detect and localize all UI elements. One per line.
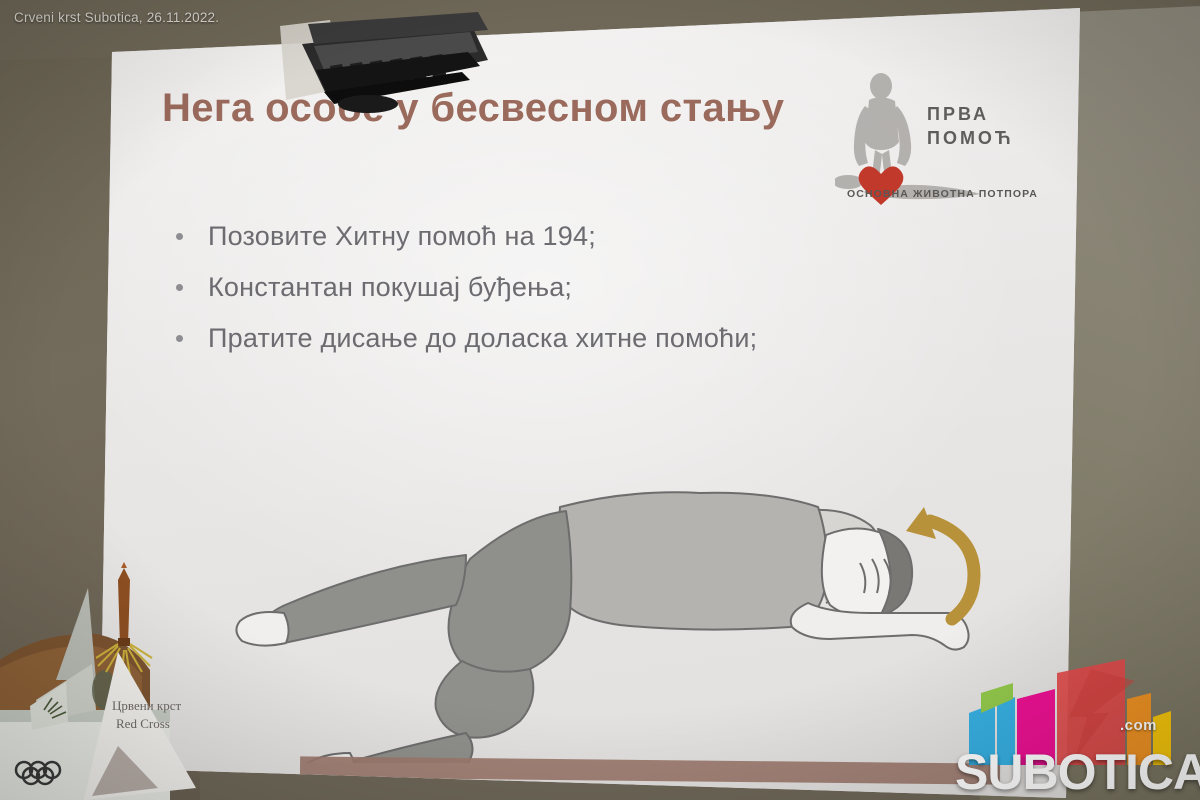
bullet-dot-icon — [176, 233, 183, 240]
watermark-domain: .com — [1120, 717, 1157, 734]
bullet-text: Константан покушај буђења; — [208, 272, 572, 302]
first-aid-logo: ПРВА ПОМОЋ ОСНОВНА ЖИВОТНА ПОТПОРА — [835, 70, 1050, 225]
logo-subtitle: ОСНОВНА ЖИВОТНА ПОТПОРА — [835, 188, 1050, 200]
bullet-text: Пратите дисање до доласка хитне помоћи; — [208, 323, 757, 353]
watermark-word: SUBOTICA — [955, 743, 1183, 800]
foreground-objects: Црвени крст Red Cross — [0, 560, 330, 800]
led-floodlight — [272, 8, 494, 116]
list-item: Константан покушај буђења; — [162, 271, 952, 305]
list-item: Позовите Хитну помоћ на 194; — [162, 220, 952, 254]
flag-text-line1: Црвени крст — [112, 698, 181, 713]
photo-scene: Нега особе у бесвесном стању Позовите Хи… — [0, 0, 1200, 800]
bullet-dot-icon — [176, 284, 183, 291]
head-tilt-arrow-icon — [906, 507, 974, 619]
bullet-dot-icon — [176, 335, 183, 342]
photo-caption: Crveni krst Subotica, 26.11.2022. — [14, 10, 219, 25]
recovery-position-illustration — [230, 463, 1020, 763]
logo-title: ПРВА ПОМОЋ — [927, 102, 1014, 151]
list-item: Пратите дисање до доласка хитне помоћи; — [162, 322, 952, 356]
slide-bullet-list: Позовите Хитну помоћ на 194; Константан … — [162, 220, 952, 372]
flag-text-line2: Red Cross — [116, 716, 170, 731]
subotica-watermark: .com SUBOTICA — [955, 655, 1200, 800]
bullet-text: Позовите Хитну помоћ на 194; — [208, 221, 596, 251]
